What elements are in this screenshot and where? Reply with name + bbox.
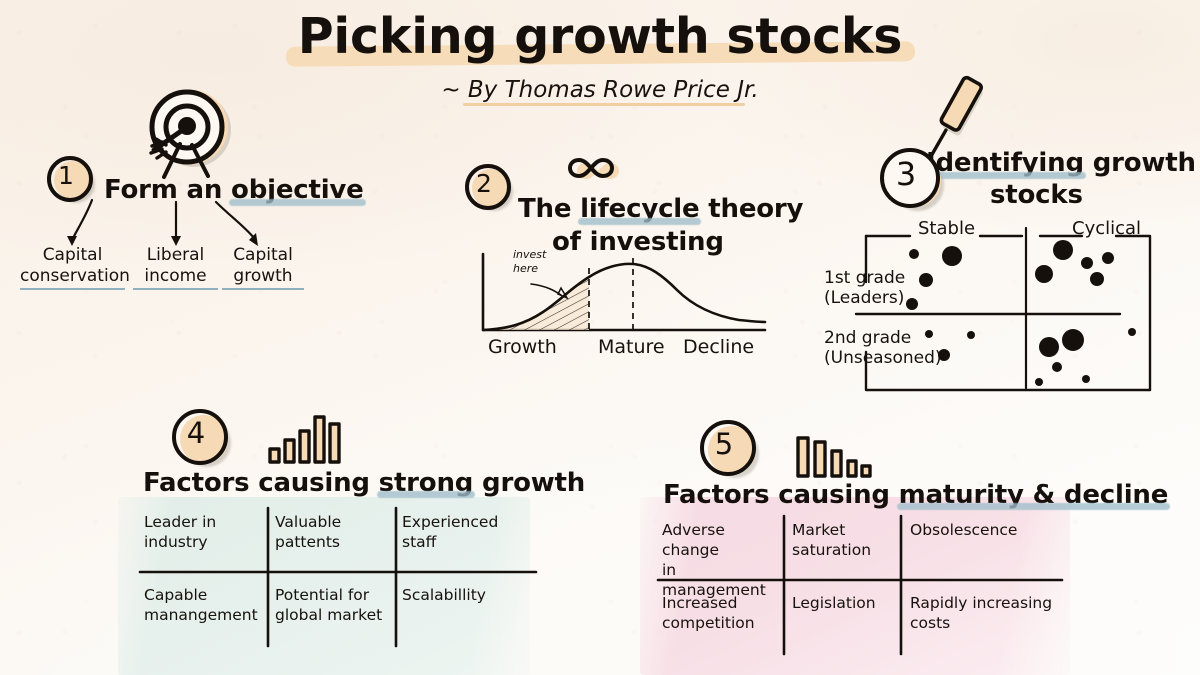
table-row: Leader in industry <box>144 512 256 552</box>
section-4-number: 4 <box>172 409 220 457</box>
section-5-heading-plain: Factors causing <box>663 480 899 510</box>
target-bullseye-icon <box>140 84 236 180</box>
section-2-number-badge: 2 <box>465 164 511 210</box>
section-2-heading-line1: The lifecycle theory <box>518 194 803 225</box>
bar-chart-falling-icon <box>794 434 874 478</box>
section-3-heading-line1: Identifying growth <box>926 148 1196 179</box>
section-2-heading-tail: theory <box>699 194 803 224</box>
section-2-annotation-line2: here <box>513 262 546 276</box>
matrix-dots-cyclical-1st <box>1035 240 1114 286</box>
growth-stock-matrix-scatter <box>854 222 1164 412</box>
section-5-factors-maturity-decline: 5 Factors causing maturity & decline Adv… <box>650 410 1095 675</box>
section-2-heading-highlight: lifecycle <box>580 194 699 225</box>
section-5-number: 5 <box>700 420 748 468</box>
page-title-text: Picking growth stocks <box>292 8 909 66</box>
matrix-dots-stable-2nd <box>925 330 975 361</box>
section-4-factors-strong-growth: 4 Factors causing strong growth Leader i… <box>130 400 560 675</box>
table-row: Obsolescence <box>910 520 1060 540</box>
section-4-heading-tail: growth <box>473 468 585 498</box>
section-1-branch-2-line2: growth <box>222 266 304 290</box>
stage-label-decline: Decline <box>683 336 754 358</box>
bar-chart-rising-icon <box>266 412 346 464</box>
table-row: Market saturation <box>792 520 897 560</box>
section-5-heading-highlight: maturity & decline <box>899 480 1169 510</box>
section-3-number: 3 <box>880 148 932 200</box>
section-3-identifying-growth-stocks: 3 Identifying growth stocks Stable Cycli… <box>840 70 1190 410</box>
infinity-icon <box>563 148 633 188</box>
table-row: Rapidly increasing costs <box>910 593 1065 633</box>
section-4-heading: Factors causing strong growth <box>143 468 585 498</box>
table-row: Scalabillity <box>402 585 532 605</box>
matrix-dots-cyclical-2nd <box>1035 328 1136 386</box>
section-2-annotation-line1: invest <box>513 248 546 262</box>
table-row: Valuable pattents <box>275 512 387 552</box>
section-1-branch-0-line1: Capital <box>20 245 125 266</box>
section-1-number-badge: 1 <box>47 156 93 202</box>
table-row: Capable manangement <box>144 585 264 625</box>
stage-label-growth: Growth <box>488 336 557 358</box>
section-4-heading-plain: Factors causing <box>143 468 379 498</box>
section-2-number: 2 <box>465 164 503 202</box>
page-subtitle-text: ~ By Thomas Rowe Price Jr. <box>441 77 758 103</box>
table-row: Legislation <box>792 593 897 613</box>
table-row: Adverse change in management <box>662 520 782 600</box>
section-4-heading-highlight: strong <box>379 468 474 498</box>
section-3-heading-highlight: Identifying <box>926 148 1084 179</box>
section-1-branch-2-line1: Capital <box>222 245 304 266</box>
section-3-heading-line2: stocks <box>990 180 1083 211</box>
section-1-branch-1: Liberal income <box>133 245 218 290</box>
section-3-heading-tail: growth <box>1084 148 1196 178</box>
section-1-number: 1 <box>47 156 85 194</box>
section-1-branch-2: Capital growth <box>222 245 304 290</box>
matrix-dots-stable-1st <box>906 246 962 310</box>
section-2-annotation: invest here <box>513 248 546 276</box>
section-1-branch-0-line2: conservation <box>20 266 125 290</box>
section-2-lifecycle-theory: 2 The lifecycle theory of investing inve… <box>455 140 795 370</box>
section-5-heading: Factors causing maturity & decline <box>663 480 1168 510</box>
section-5-number-badge: 5 <box>700 420 758 478</box>
section-1-branch-1-line2: income <box>133 266 218 290</box>
section-4-number-badge: 4 <box>172 409 230 467</box>
table-row: Experienced staff <box>402 512 532 552</box>
stage-label-mature: Mature <box>598 336 665 358</box>
table-row: Increased competition <box>662 593 782 633</box>
table-row: Potential for global market <box>275 585 393 625</box>
section-1-branch-0: Capital conservation <box>20 245 125 290</box>
section-1-branch-1-line1: Liberal <box>133 245 218 266</box>
section-2-heading-plain: The <box>518 194 580 224</box>
